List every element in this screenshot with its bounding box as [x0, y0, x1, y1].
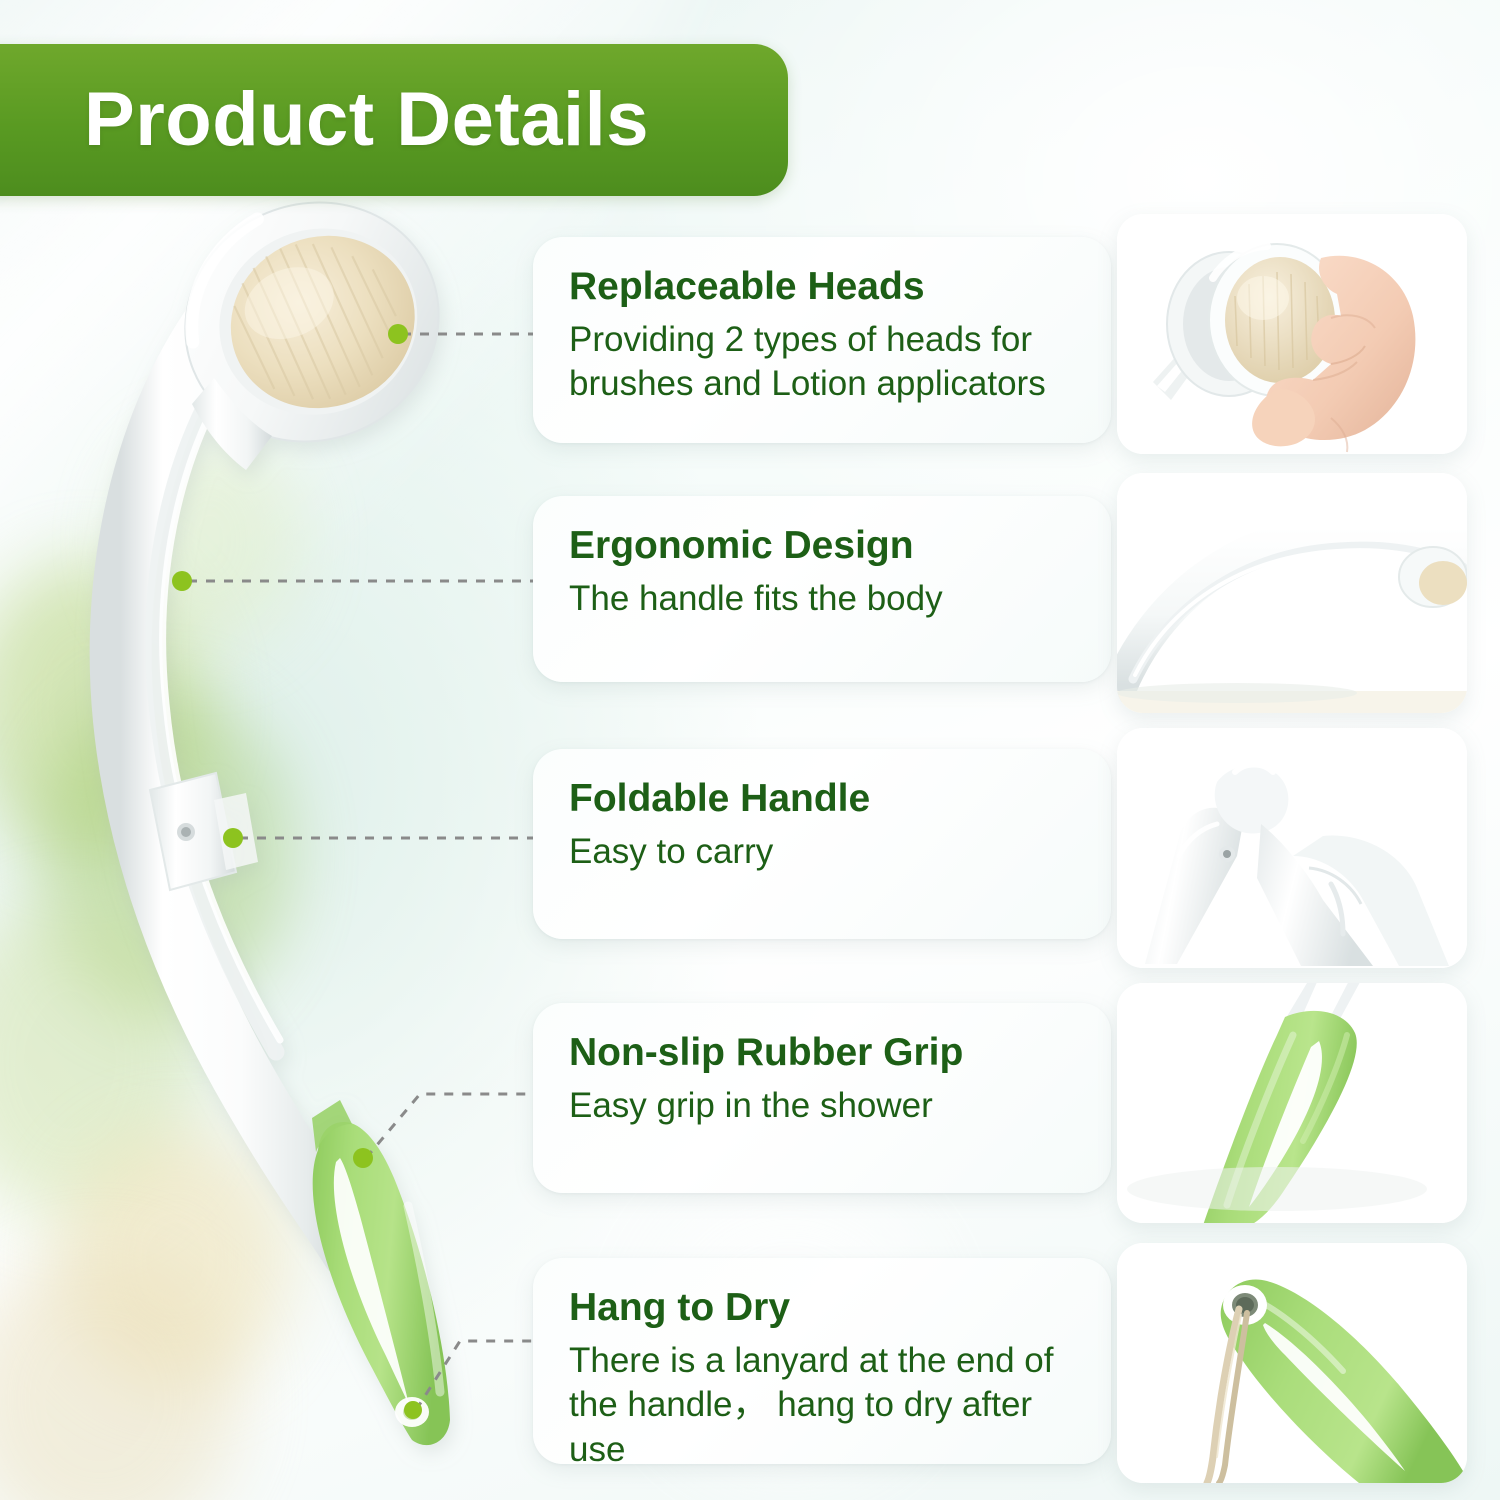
- header-banner: Product Details: [0, 44, 788, 196]
- feature-card-replaceable-heads: Replaceable Heads Providing 2 types of h…: [533, 237, 1111, 443]
- feature-card-non-slip-rubber-grip: Non-slip Rubber Grip Easy grip in the sh…: [533, 1003, 1111, 1193]
- feature-thumbnail-replaceable-heads: [1117, 214, 1467, 454]
- feature-description: There is a lanyard at the end of the han…: [569, 1339, 1077, 1473]
- feature-title: Ergonomic Design: [569, 524, 1077, 568]
- feature-card-foldable-handle: Foldable Handle Easy to carry: [533, 749, 1111, 939]
- feature-thumbnail-ergonomic-design: [1117, 473, 1467, 713]
- feature-title: Replaceable Heads: [569, 265, 1077, 309]
- feature-title: Foldable Handle: [569, 777, 1077, 821]
- feature-thumbnail-non-slip-rubber-grip: [1117, 983, 1467, 1223]
- page-title: Product Details: [84, 82, 649, 158]
- feature-thumbnail-hang-to-dry: [1117, 1243, 1467, 1483]
- feature-title: Non-slip Rubber Grip: [569, 1031, 1077, 1075]
- feature-description: Providing 2 types of heads for brushes a…: [569, 318, 1077, 408]
- feature-description: Easy to carry: [569, 830, 1077, 875]
- feature-description: Easy grip in the shower: [569, 1084, 1077, 1129]
- feature-card-hang-to-dry: Hang to Dry There is a lanyard at the en…: [533, 1258, 1111, 1464]
- feature-card-ergonomic-design: Ergonomic Design The handle fits the bod…: [533, 496, 1111, 682]
- feature-description: The handle fits the body: [569, 577, 1077, 622]
- feature-title: Hang to Dry: [569, 1286, 1077, 1330]
- feature-thumbnail-foldable-handle: [1117, 728, 1467, 968]
- infographic-page: Product Details Replaceable Heads Provid…: [0, 0, 1500, 1500]
